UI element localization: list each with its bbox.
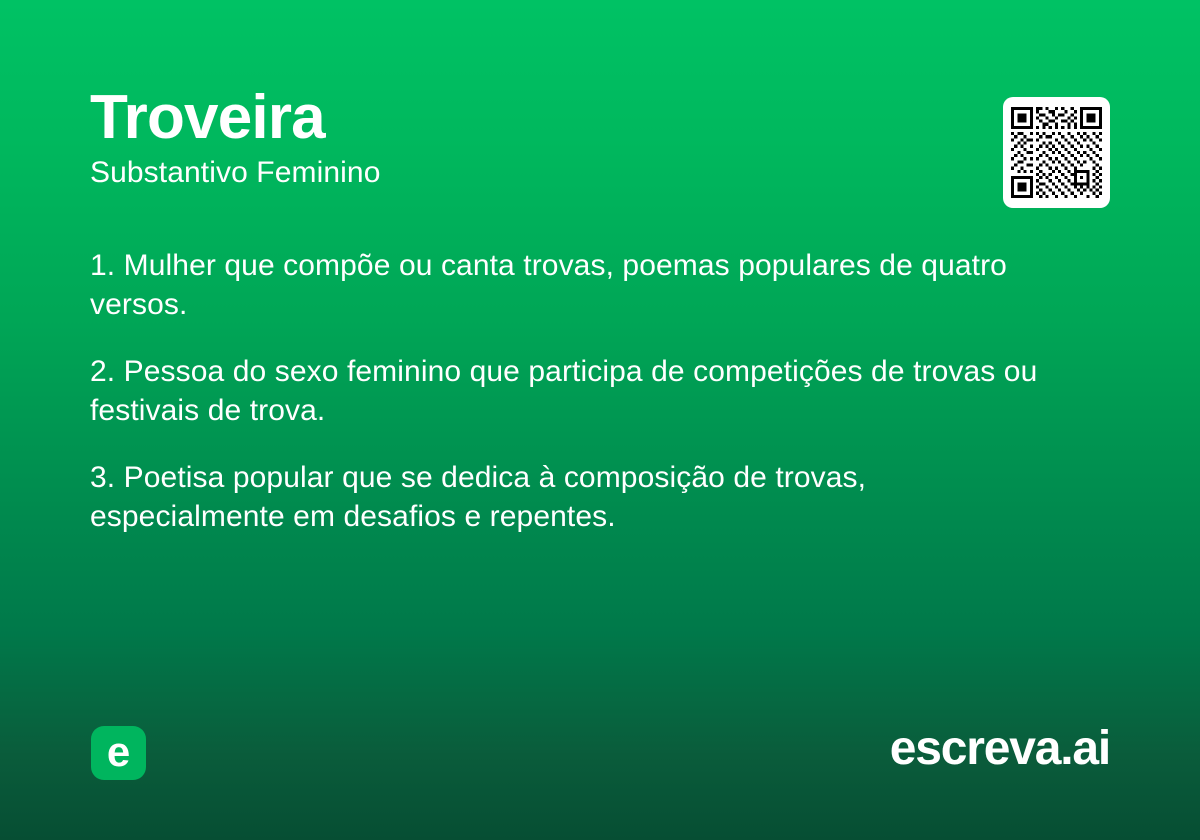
definition-item: 3. Poetisa popular que se dedica à compo… [90,458,1050,536]
brand-wordmark: escreva.ai [890,723,1110,776]
brand-logo: e [91,726,146,780]
definition-item: 1. Mulher que compõe ou canta trovas, po… [90,246,1050,324]
qr-code[interactable] [1003,97,1110,208]
definition-list: 1. Mulher que compõe ou canta trovas, po… [90,246,1050,536]
word-class-label: Substantivo Feminino [90,155,970,191]
definition-item: 2. Pessoa do sexo feminino que participa… [90,352,1050,430]
page-title: Troveira [90,86,970,149]
card-header: Troveira Substantivo Feminino [90,86,970,191]
brand-logo-letter: e [107,731,130,773]
dictionary-card: Troveira Substantivo Feminino [0,0,1200,840]
qr-code-icon [1011,107,1102,198]
